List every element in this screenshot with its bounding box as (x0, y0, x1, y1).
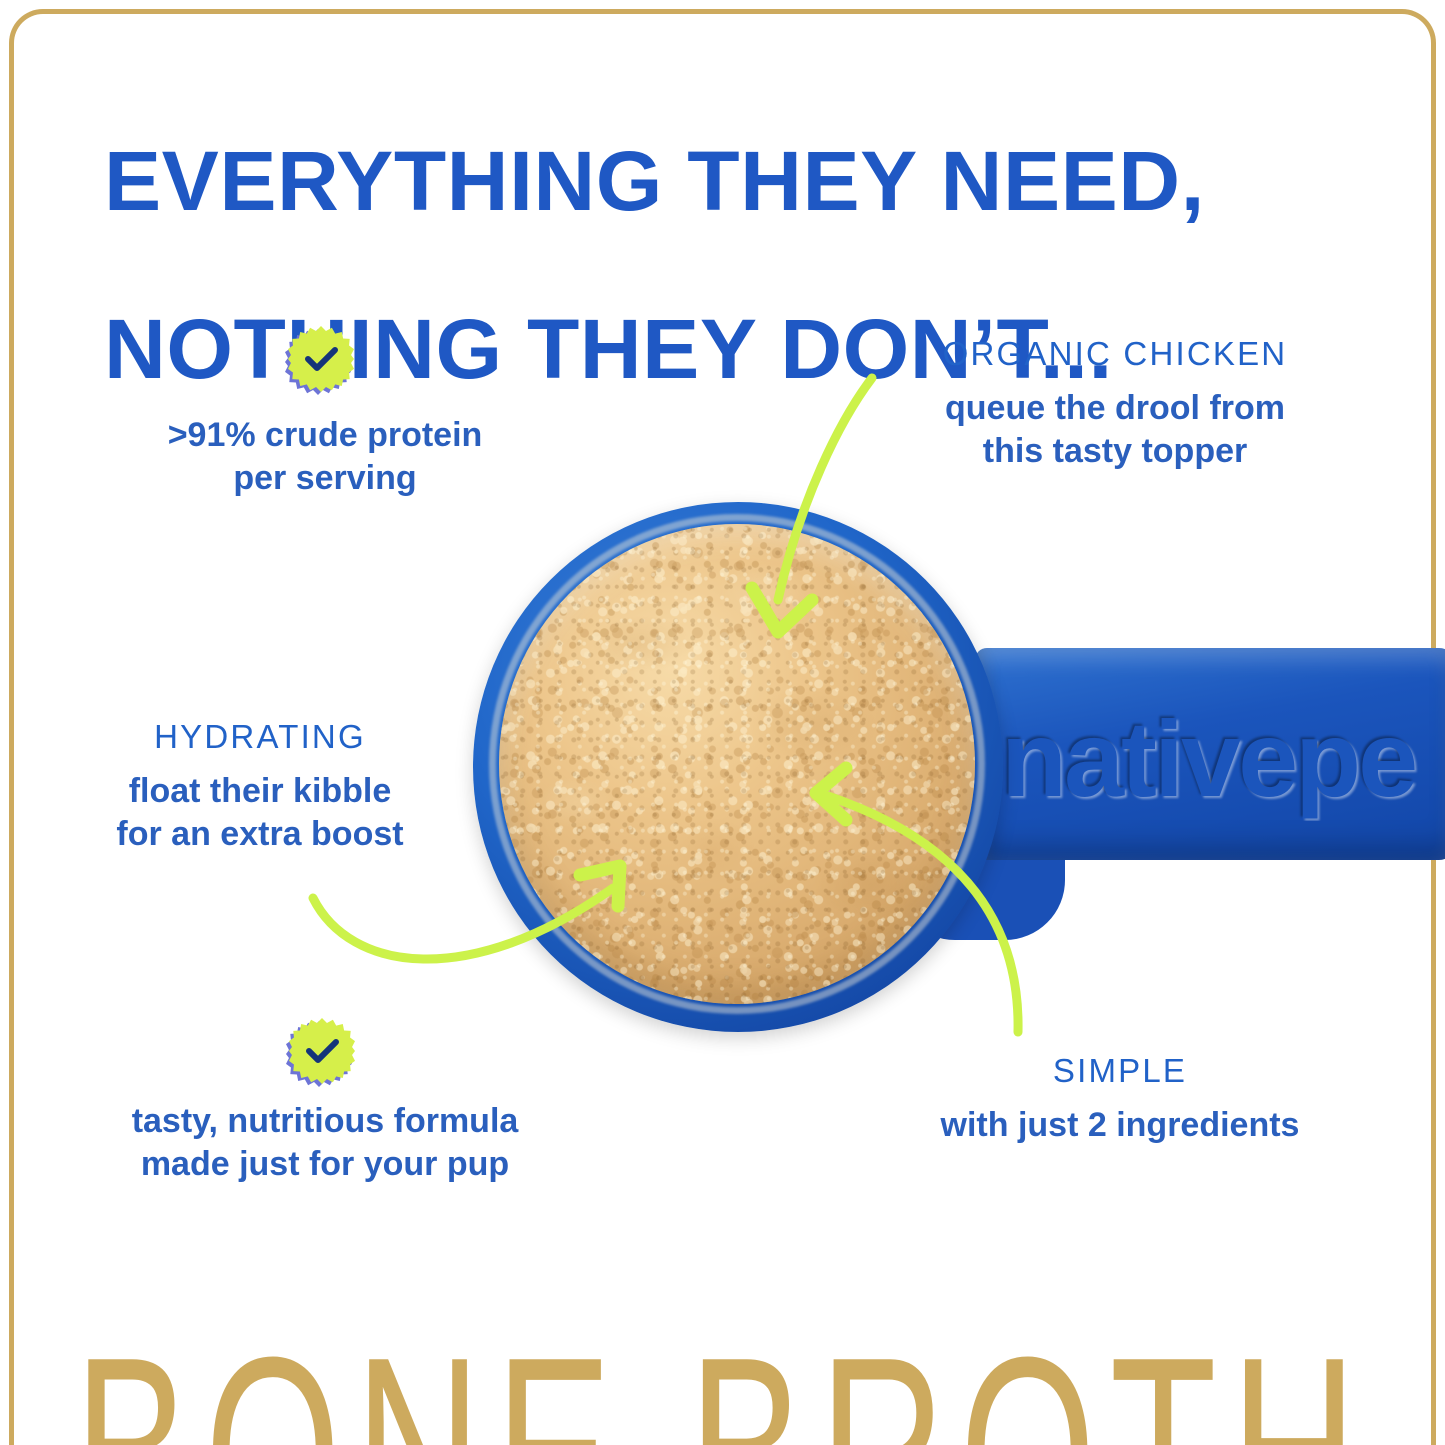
product-scoop-image: nativepe (455, 490, 1445, 1050)
feature-protein-body: >91% crude protein per serving (120, 414, 530, 500)
product-wordmark: BONE BROTH (0, 1318, 1445, 1445)
feature-hydrating-title: HYDRATING (60, 718, 460, 756)
feature-simple: SIMPLE with just 2 ingredients (900, 1052, 1340, 1147)
scoop-handle: nativepe (975, 648, 1445, 860)
checkmark-icon (289, 1018, 355, 1084)
headline-line-1: EVERYTHING THEY NEED, (104, 139, 1389, 223)
feature-hydrating-body: float their kibble for an extra boost (60, 770, 460, 856)
feature-simple-title: SIMPLE (900, 1052, 1340, 1090)
feature-simple-body: with just 2 ingredients (900, 1104, 1340, 1147)
feature-hydrating: HYDRATING float their kibble for an extr… (60, 718, 460, 856)
check-badge-icon (288, 326, 354, 392)
scoop-bowl (473, 502, 1003, 1032)
feature-tasty-body: tasty, nutritious formula made just for … (90, 1100, 560, 1186)
feature-organic-chicken: ORGANIC CHICKEN queue the drool from thi… (880, 335, 1350, 473)
checkmark-icon (288, 326, 354, 392)
feature-protein: >91% crude protein per serving (120, 414, 530, 500)
feature-tasty: tasty, nutritious formula made just for … (90, 1100, 560, 1186)
check-badge-icon (289, 1018, 355, 1084)
feature-organic-chicken-title: ORGANIC CHICKEN (880, 335, 1350, 373)
scoop-handle-embossed-logo: nativepe (1001, 696, 1445, 821)
feature-organic-chicken-body: queue the drool from this tasty topper (880, 387, 1350, 473)
scoop-rim-dust (489, 514, 985, 1014)
infographic-canvas: EVERYTHING THEY NEED, NOTHING THEY DON’T… (0, 0, 1445, 1445)
